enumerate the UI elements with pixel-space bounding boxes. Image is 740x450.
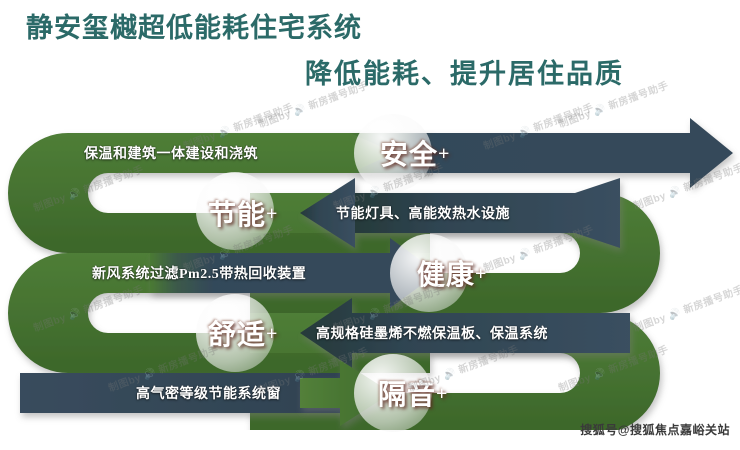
row-1-keyword: 安全+ — [380, 133, 450, 173]
row-4-keyword: 舒适+ — [208, 313, 278, 353]
row-3-keyword: 健康+ — [417, 253, 487, 293]
row-2-description: 节能灯具、高能效热水设施 — [336, 203, 510, 223]
row-1-description: 保温和建筑一体建设和浇筑 — [84, 143, 258, 163]
serpentine-process-diagram: 保温和建筑一体建设和浇筑 安全+ 节能+ 节能灯具、高能效热水设施 新风系统过滤… — [0, 110, 740, 430]
page-subtitle: 降低能耗、提升居住品质 — [305, 52, 624, 91]
row-5-keyword: 隔音+ — [378, 373, 448, 413]
row-3-description: 新风系统过滤Pm2.5带热回收装置 — [92, 263, 306, 283]
page-title: 静安玺樾超低能耗住宅系统 — [26, 6, 362, 45]
row-4-description: 高规格硅墨烯不燃保温板、保温系统 — [316, 323, 548, 343]
row-2-keyword: 节能+ — [208, 193, 278, 233]
slide-canvas: 静安玺樾超低能耗住宅系统 降低能耗、提升居住品质 — [0, 0, 740, 450]
row-5-description: 高气密等级节能系统窗 — [136, 383, 281, 403]
source-credit: 搜狐号@搜狐焦点嘉峪关站 — [580, 421, 730, 438]
